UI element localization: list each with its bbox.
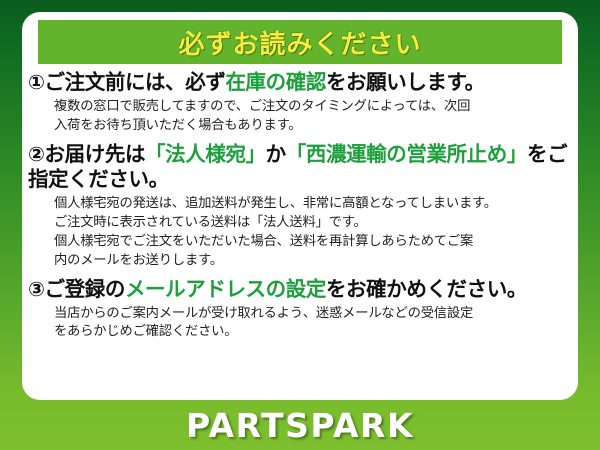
section-1-heading: ①ご注文前には、必ず在庫の確認をお願いします。 [28,70,568,96]
section-2-body-line-3: 個人様宅宛でご注文をいただいた場合、送料を再計算しあらためてご案 [54,233,568,252]
section-1-heading-part-1: ご注文前には、必ず [45,70,226,94]
notice-section-2: ②お届け先は「法人様宛」か「西濃運輸の営業所止め」をご指定ください。 個人様宅宛… [28,142,568,271]
brand-logo: PARTSPARK [186,406,414,445]
notice-card: 必ずお読みください ①ご注文前には、必ず在庫の確認をお願いします。 複数の窓口で… [22,12,578,400]
section-3-body-line-2: をあらかじめご確認ください。 [54,323,568,342]
section-2-heading-highlight-2: 「西濃運輸の営業所止め」 [286,142,527,166]
section-2-body-line-2: ご注文時に表示されている送料は「法人送料」です。 [54,214,568,233]
notice-banner: 必ずお読みください ①ご注文前には、必ず在庫の確認をお願いします。 複数の窓口で… [0,0,600,450]
notice-section-3: ③ご登録のメールアドレスの設定をお確かめください。 当店からのご案内メールが受け… [28,277,568,343]
section-3-heading-part-3: をお確かめください。 [326,277,527,301]
section-3-body-line-1: 当店からのご案内メールが受け取れるよう、迷惑メールなどの受信設定 [54,305,568,324]
footer: PARTSPARK [0,400,600,450]
section-1-heading-highlight: 在庫の確認 [225,70,326,94]
section-2-heading-part-1: お届け先は [45,142,146,166]
page-title: 必ずお読みください [178,24,421,61]
section-2-body-line-4: 内のメールをお送りします。 [54,252,568,271]
section-3-heading: ③ご登録のメールアドレスの設定をお確かめください。 [28,277,568,303]
section-3-heading-part-1: ご登録の [45,277,125,301]
section-1-number: ① [28,70,45,94]
section-1-body-line-1: 複数の窓口で販売してますので、ご注文のタイミングによっては、次回 [54,98,568,117]
section-1-body-line-2: 入荷をお待ち頂いただく場合もあります。 [54,117,568,136]
header-band: 必ずお読みください [38,20,562,64]
notice-section-1: ①ご注文前には、必ず在庫の確認をお願いします。 複数の窓口で販売してますので、ご… [28,70,568,136]
section-3-number: ③ [28,277,45,301]
section-1-body: 複数の窓口で販売してますので、ご注文のタイミングによっては、次回 入荷をお待ち頂… [54,98,568,136]
section-2-heading-highlight-1: 「法人様宛」 [145,142,266,166]
section-2-heading-part-3: か [266,142,286,166]
section-2-body: 個人様宅宛の発送は、追加送料が発生し、非常に高額となってしまいます。 ご注文時に… [54,195,568,271]
section-2-heading: ②お届け先は「法人様宛」か「西濃運輸の営業所止め」をご指定ください。 [28,142,568,194]
section-2-body-line-1: 個人様宅宛の発送は、追加送料が発生し、非常に高額となってしまいます。 [54,195,568,214]
section-3-body: 当店からのご案内メールが受け取れるよう、迷惑メールなどの受信設定 をあらかじめご… [54,305,568,343]
section-2-number: ② [28,142,45,166]
notice-sections: ①ご注文前には、必ず在庫の確認をお願いします。 複数の窓口で販売してますので、ご… [22,70,578,348]
section-3-heading-highlight: メールアドレスの設定 [125,277,326,301]
section-1-heading-part-3: をお願いします。 [326,70,485,94]
